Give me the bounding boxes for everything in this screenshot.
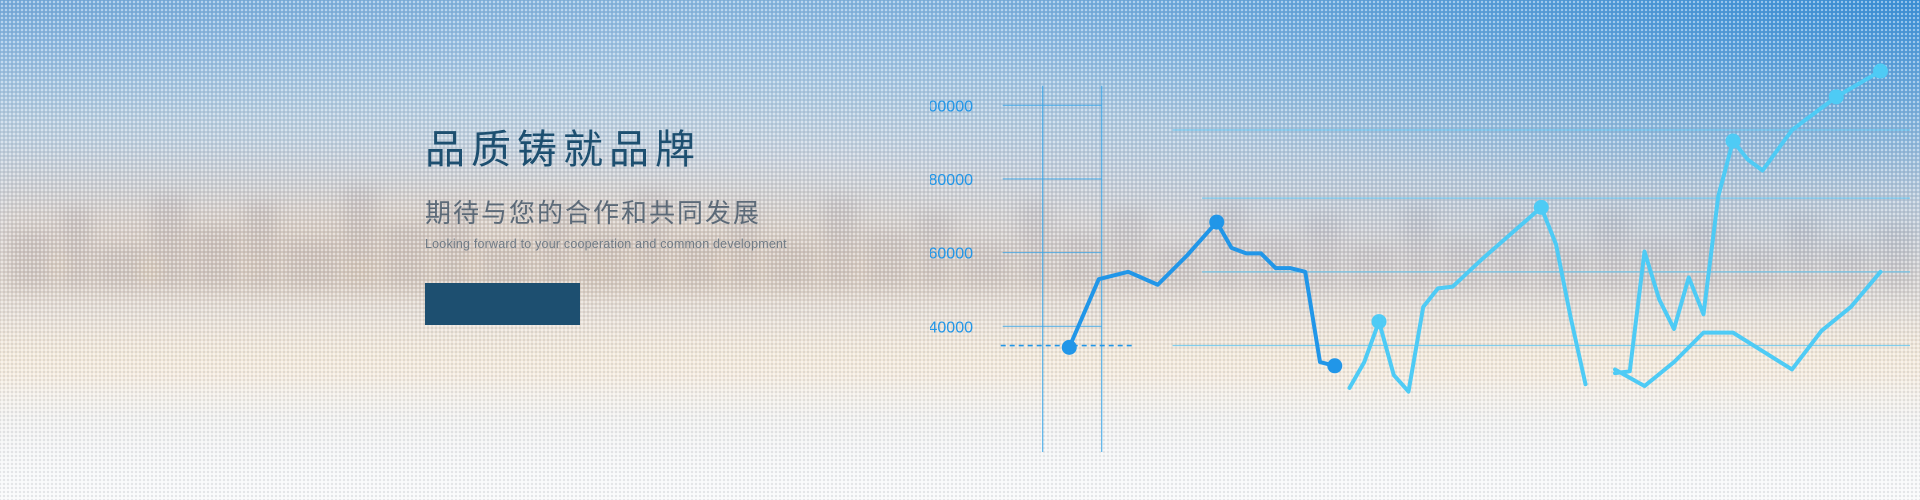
chart-data-point[interactable]: [1873, 64, 1888, 79]
chart-data-point[interactable]: [1534, 200, 1549, 215]
banner-subtitle: 期待与您的合作和共同发展: [425, 200, 865, 226]
y-axis-tick-label: 40000: [930, 319, 973, 336]
chart-data-point[interactable]: [1327, 358, 1342, 373]
y-axis-tick-label: 80000: [930, 172, 973, 189]
chart-series-line-2: [1350, 207, 1586, 391]
chart-series-line-3: [1615, 71, 1881, 373]
page-title: 品质铸就品牌: [425, 130, 865, 170]
line-chart: 400006000080000100000: [930, 0, 1920, 500]
chart-data-point[interactable]: [1209, 215, 1224, 230]
chart-data-point[interactable]: [1829, 89, 1844, 104]
chart-data-point[interactable]: [1726, 134, 1741, 149]
chart-data-point[interactable]: [1062, 340, 1077, 355]
cta-button[interactable]: [425, 283, 580, 325]
chart-data-point[interactable]: [1372, 314, 1387, 329]
chart-canvas: 400006000080000100000: [930, 0, 1920, 500]
banner-stage: 品质铸就品牌 期待与您的合作和共同发展 Looking forward to y…: [0, 0, 1920, 500]
chart-series-line-1: [1069, 222, 1335, 366]
y-axis-tick-label: 60000: [930, 246, 973, 263]
y-axis-tick-label: 100000: [930, 98, 973, 115]
banner-copy-block: 品质铸就品牌 期待与您的合作和共同发展 Looking forward to y…: [425, 130, 865, 325]
banner-subtitle-english: Looking forward to your cooperation and …: [425, 238, 865, 251]
